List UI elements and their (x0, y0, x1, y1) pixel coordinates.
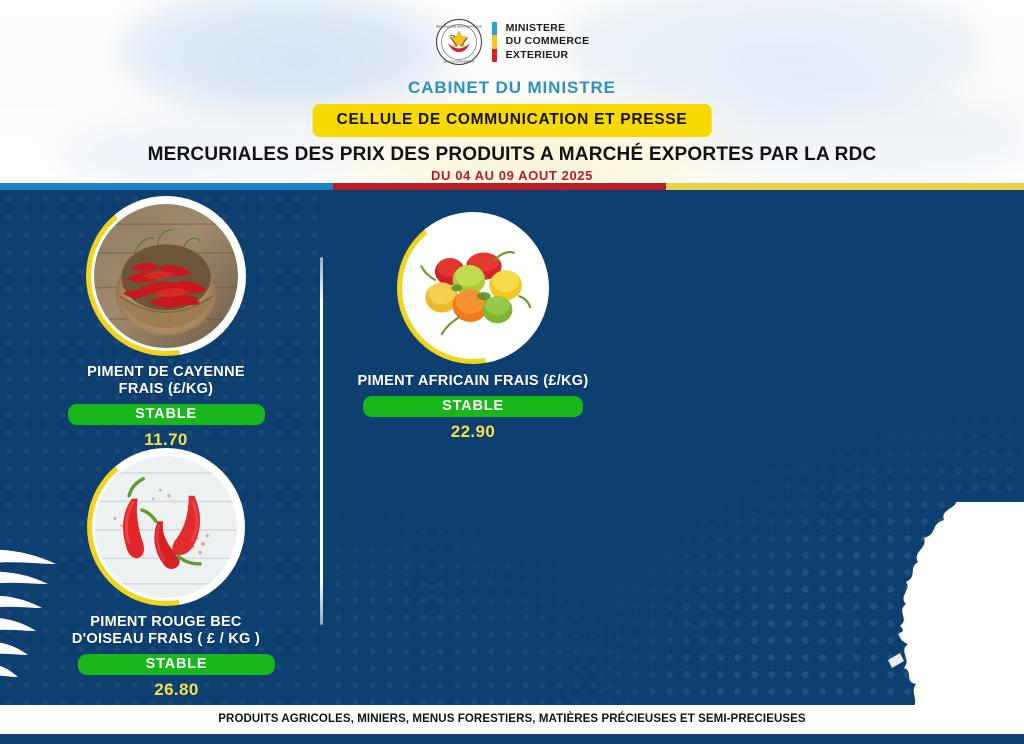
product-label: PIMENT DE CAYENNE FRAIS (£/KG) (36, 364, 296, 398)
product-price: 26.80 (78, 680, 275, 700)
tricolor-yellow (492, 35, 497, 48)
product-image-frame (86, 196, 246, 356)
product-card-cayenne: PIMENT DE CAYENNE FRAIS (£/KG) STABLE 11… (36, 196, 296, 450)
footer-blue-bar (0, 734, 1024, 744)
product-card-africain: PIMENT AFRICAIN FRAIS (£/KG) STABLE 22.9… (333, 212, 613, 442)
drc-coat-of-arms-icon: REPUBLIQUE DEMOCRATIQUE LE GOUVERNEMENT (435, 18, 483, 66)
cabinet-subtitle: CABINET DU MINISTRE (0, 78, 1024, 98)
product-label: PIMENT ROUGE BEC D'OISEAU FRAIS ( £ / KG… (26, 614, 306, 648)
tricolor-red (492, 49, 497, 62)
product-image-frame (397, 212, 549, 364)
ministry-name: MINISTERE DU COMMERCE EXTERIEUR (506, 22, 590, 62)
vertical-divider (320, 257, 323, 625)
strip-red-segment (333, 183, 666, 190)
product-image-frame (87, 448, 245, 606)
product-card-bec-doiseau: PIMENT ROUGE BEC D'OISEAU FRAIS ( £ / KG… (26, 448, 306, 700)
status-badge: STABLE (78, 654, 275, 675)
mixed-habanero-peppers-photo (405, 220, 541, 356)
mercuriale-poster: REPUBLIQUE DEMOCRATIQUE LE GOUVERNEMENT … (0, 0, 1024, 744)
svg-text:REPUBLIQUE DEMOCRATIQUE: REPUBLIQUE DEMOCRATIQUE (436, 25, 482, 29)
page-title: MERCURIALES DES PRIX DES PRODUITS A MARC… (0, 144, 1024, 166)
product-label: PIMENT AFRICAIN FRAIS (£/KG) (333, 373, 613, 390)
cellule-banner: CELLULE DE COMMUNICATION ET PRESSE (313, 104, 712, 137)
poster-footer: PRODUITS AGRICOLES, MINIERS, MENUS FORES… (0, 705, 1024, 744)
footer-text: PRODUITS AGRICOLES, MINIERS, MENUS FORES… (0, 713, 1024, 725)
strip-yellow-segment (666, 183, 1024, 190)
red-chili-peppers-in-wooden-bowl-photo (94, 204, 238, 348)
poster-header: REPUBLIQUE DEMOCRATIQUE LE GOUVERNEMENT … (0, 0, 1024, 183)
status-badge: STABLE (363, 396, 583, 417)
ministry-brand: REPUBLIQUE DEMOCRATIQUE LE GOUVERNEMENT … (0, 18, 1024, 66)
product-price: 11.70 (36, 430, 296, 450)
products-panel: PIMENT DE CAYENNE FRAIS (£/KG) STABLE 11… (0, 190, 1024, 705)
status-badge: STABLE (68, 404, 265, 425)
product-price: 22.90 (333, 422, 613, 442)
tricolor-bar-icon (492, 22, 497, 62)
date-range: DU 04 AU 09 AOUT 2025 (0, 168, 1024, 183)
red-chili-peppers-on-white-wood-photo (95, 456, 237, 598)
paint-brush-stroke-icon (844, 502, 1024, 705)
svg-text:LE GOUVERNEMENT: LE GOUVERNEMENT (443, 59, 474, 63)
halftone-dots-center (330, 405, 760, 705)
tricolor-strip (0, 183, 1024, 190)
strip-blue-segment (0, 183, 333, 190)
tricolor-blue (492, 22, 497, 35)
